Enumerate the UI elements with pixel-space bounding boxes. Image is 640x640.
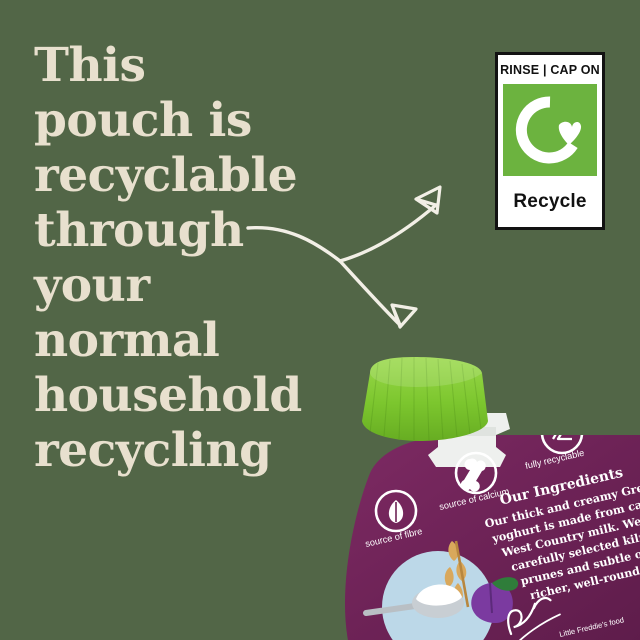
headline-line: pouch is [34, 93, 364, 148]
spout-cap [362, 357, 488, 441]
poster-canvas: This pouch is recyclable through your no… [0, 0, 640, 640]
headline-line: This [34, 38, 364, 93]
recycle-word-text: Recycle [498, 176, 602, 227]
recycle-label: RINSE | CAP ON Recycle [495, 52, 605, 230]
product-pouch: source of fibre source of calcium [310, 355, 640, 640]
hand-drawn-double-arrow [240, 165, 480, 355]
recycle-arrow-heart-icon [513, 93, 587, 167]
recycle-icon-panel [503, 84, 597, 176]
rinse-cap-on-text: RINSE | CAP ON [498, 55, 602, 84]
